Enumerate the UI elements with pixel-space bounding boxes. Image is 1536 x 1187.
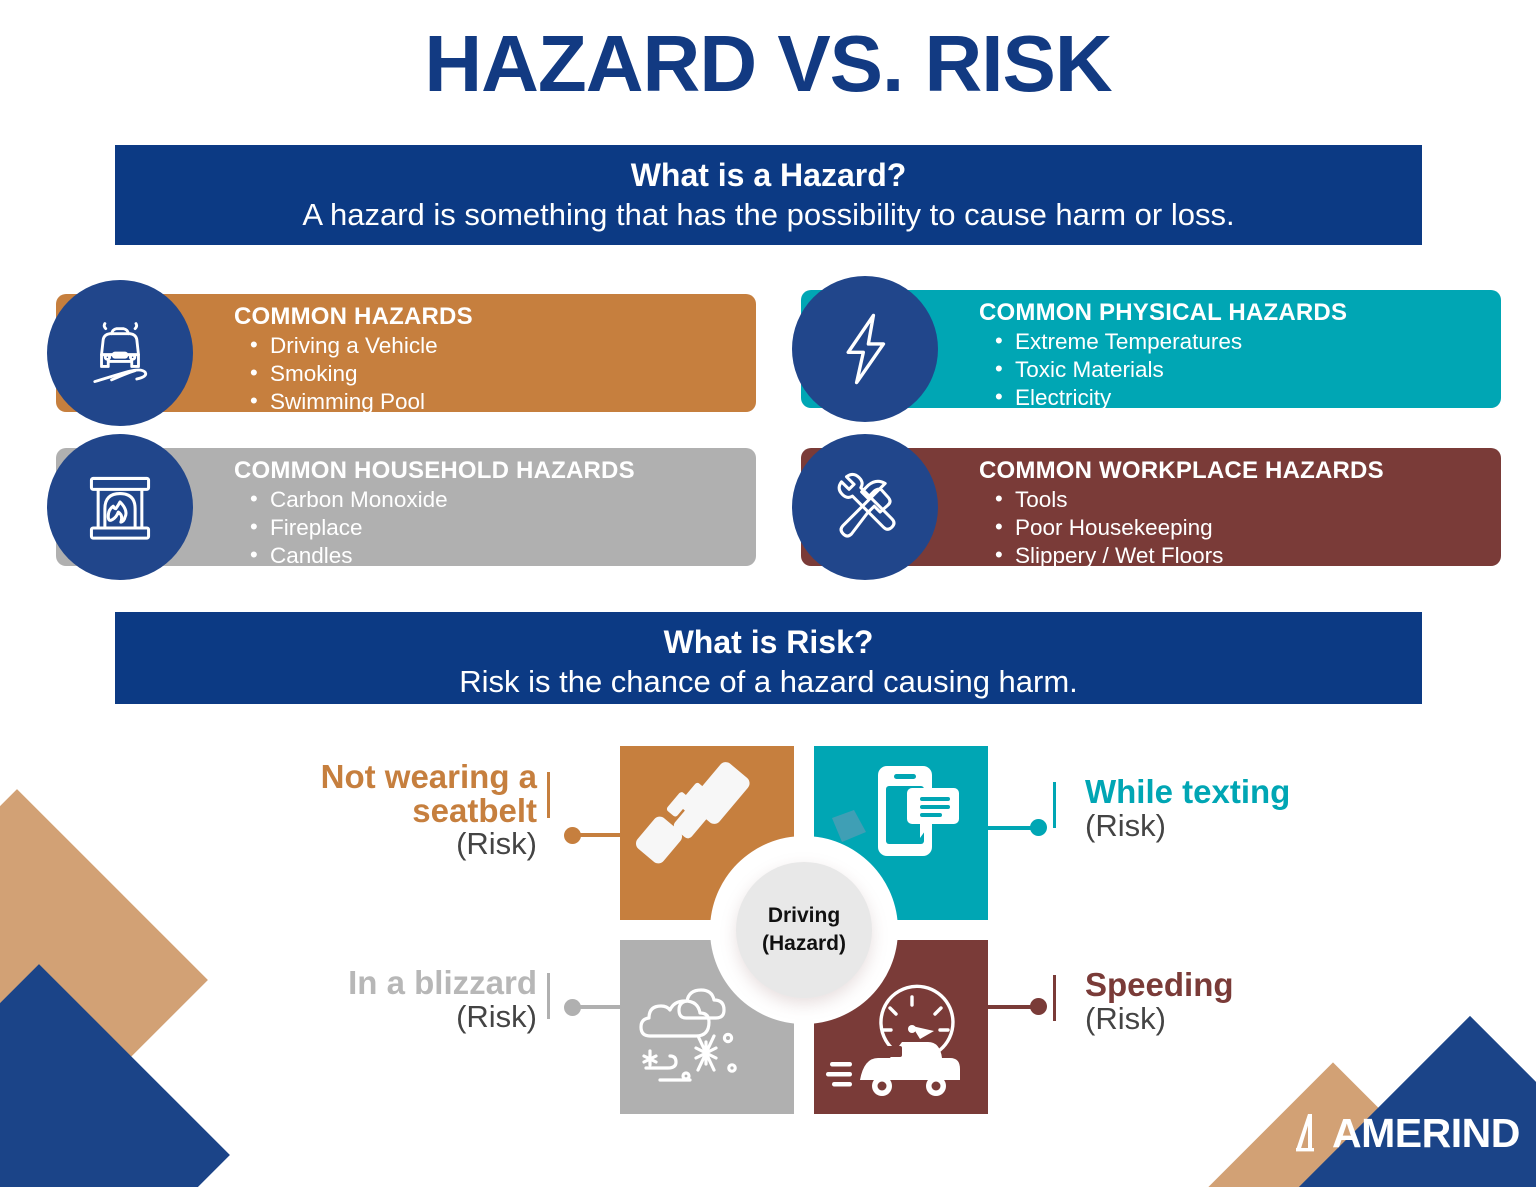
list-item: Carbon Monoxide (234, 486, 635, 514)
hazard-card-heading: COMMON HAZARDS (234, 304, 473, 331)
list-item: Candles (234, 542, 635, 570)
tick-speeding (1053, 975, 1056, 1021)
car-on-road-icon (47, 280, 193, 426)
hazard-card-list: Carbon Monoxide Fireplace Candles (234, 486, 635, 570)
list-item: Fireplace (234, 514, 635, 542)
risk-label-texting: While texting (Risk) (1085, 775, 1415, 843)
risk-definition-banner: What is Risk? Risk is the chance of a ha… (115, 612, 1422, 704)
risk-label-title: In a blizzard (225, 966, 537, 1000)
list-item: Slippery / Wet Floors (979, 542, 1384, 570)
tick-seatbelt (547, 772, 550, 818)
lightning-bolt-icon (792, 276, 938, 422)
list-item: Driving a Vehicle (234, 332, 473, 360)
wheel-hub: Driving (Hazard) (736, 862, 872, 998)
list-item: Poor Housekeeping (979, 514, 1384, 542)
risk-label-seatbelt: Not wearing a seatbelt (Risk) (225, 760, 537, 861)
list-item: Tools (979, 486, 1384, 514)
risk-answer: Risk is the chance of a hazard causing h… (135, 662, 1402, 702)
hazard-definition-banner: What is a Hazard? A hazard is something … (115, 145, 1422, 245)
hazard-card-heading: COMMON PHYSICAL HAZARDS (979, 300, 1347, 327)
hazard-card-list: Driving a Vehicle Smoking Swimming Pool (234, 332, 473, 416)
fireplace-icon (47, 434, 193, 580)
hazard-card-heading: COMMON WORKPLACE HAZARDS (979, 458, 1384, 485)
dot-speeding (1030, 998, 1047, 1015)
list-item: Toxic Materials (979, 356, 1347, 384)
hazard-card-workplace-hazards: COMMON WORKPLACE HAZARDS Tools Poor Hous… (801, 448, 1501, 566)
wheel-hub-line2: (Hazard) (762, 930, 846, 958)
risk-label-sub: (Risk) (225, 827, 537, 861)
hazard-card-physical-hazards: COMMON PHYSICAL HAZARDS Extreme Temperat… (801, 290, 1501, 408)
hazard-card-heading: COMMON HOUSEHOLD HAZARDS (234, 458, 635, 485)
wheel-hub-line1: Driving (768, 902, 840, 930)
page-title: HAZARD VS. RISK (0, 24, 1536, 104)
list-item: Extreme Temperatures (979, 328, 1347, 356)
tick-blizzard (547, 973, 550, 1019)
dot-texting (1030, 819, 1047, 836)
list-item: Smoking (234, 360, 473, 388)
risk-question: What is Risk? (135, 622, 1402, 662)
hazard-card-household-hazards: COMMON HOUSEHOLD HAZARDS Carbon Monoxide… (56, 448, 756, 566)
risk-label-title: Speeding (1085, 968, 1415, 1002)
dot-blizzard (564, 999, 581, 1016)
list-item: Electricity (979, 384, 1347, 412)
amerind-logo: AMERIND (1290, 1112, 1520, 1154)
risk-label-blizzard: In a blizzard (Risk) (225, 966, 537, 1034)
risk-label-sub: (Risk) (1085, 809, 1415, 843)
risk-label-sub: (Risk) (225, 1000, 537, 1034)
tick-texting (1053, 782, 1056, 828)
hazard-card-list: Extreme Temperatures Toxic Materials Ele… (979, 328, 1347, 412)
risk-label-title: While texting (1085, 775, 1415, 809)
risk-label-sub: (Risk) (1085, 1002, 1415, 1036)
amerind-logo-text: AMERIND (1332, 1113, 1520, 1154)
infographic-page: AMERIND HAZARD VS. RISK What is a Hazard… (0, 0, 1536, 1187)
hazard-answer: A hazard is something that has the possi… (135, 195, 1402, 235)
list-item: Swimming Pool (234, 388, 473, 416)
risk-label-title: Not wearing a seatbelt (225, 760, 537, 827)
amerind-a-mark-icon (1290, 1112, 1330, 1154)
dot-seatbelt (564, 827, 581, 844)
hazard-question: What is a Hazard? (135, 155, 1402, 195)
hazard-card-common-hazards: COMMON HAZARDS Driving a Vehicle Smoking… (56, 294, 756, 412)
risk-label-speeding: Speeding (Risk) (1085, 968, 1415, 1036)
wrench-hammer-icon (792, 434, 938, 580)
hazard-card-list: Tools Poor Housekeeping Slippery / Wet F… (979, 486, 1384, 570)
